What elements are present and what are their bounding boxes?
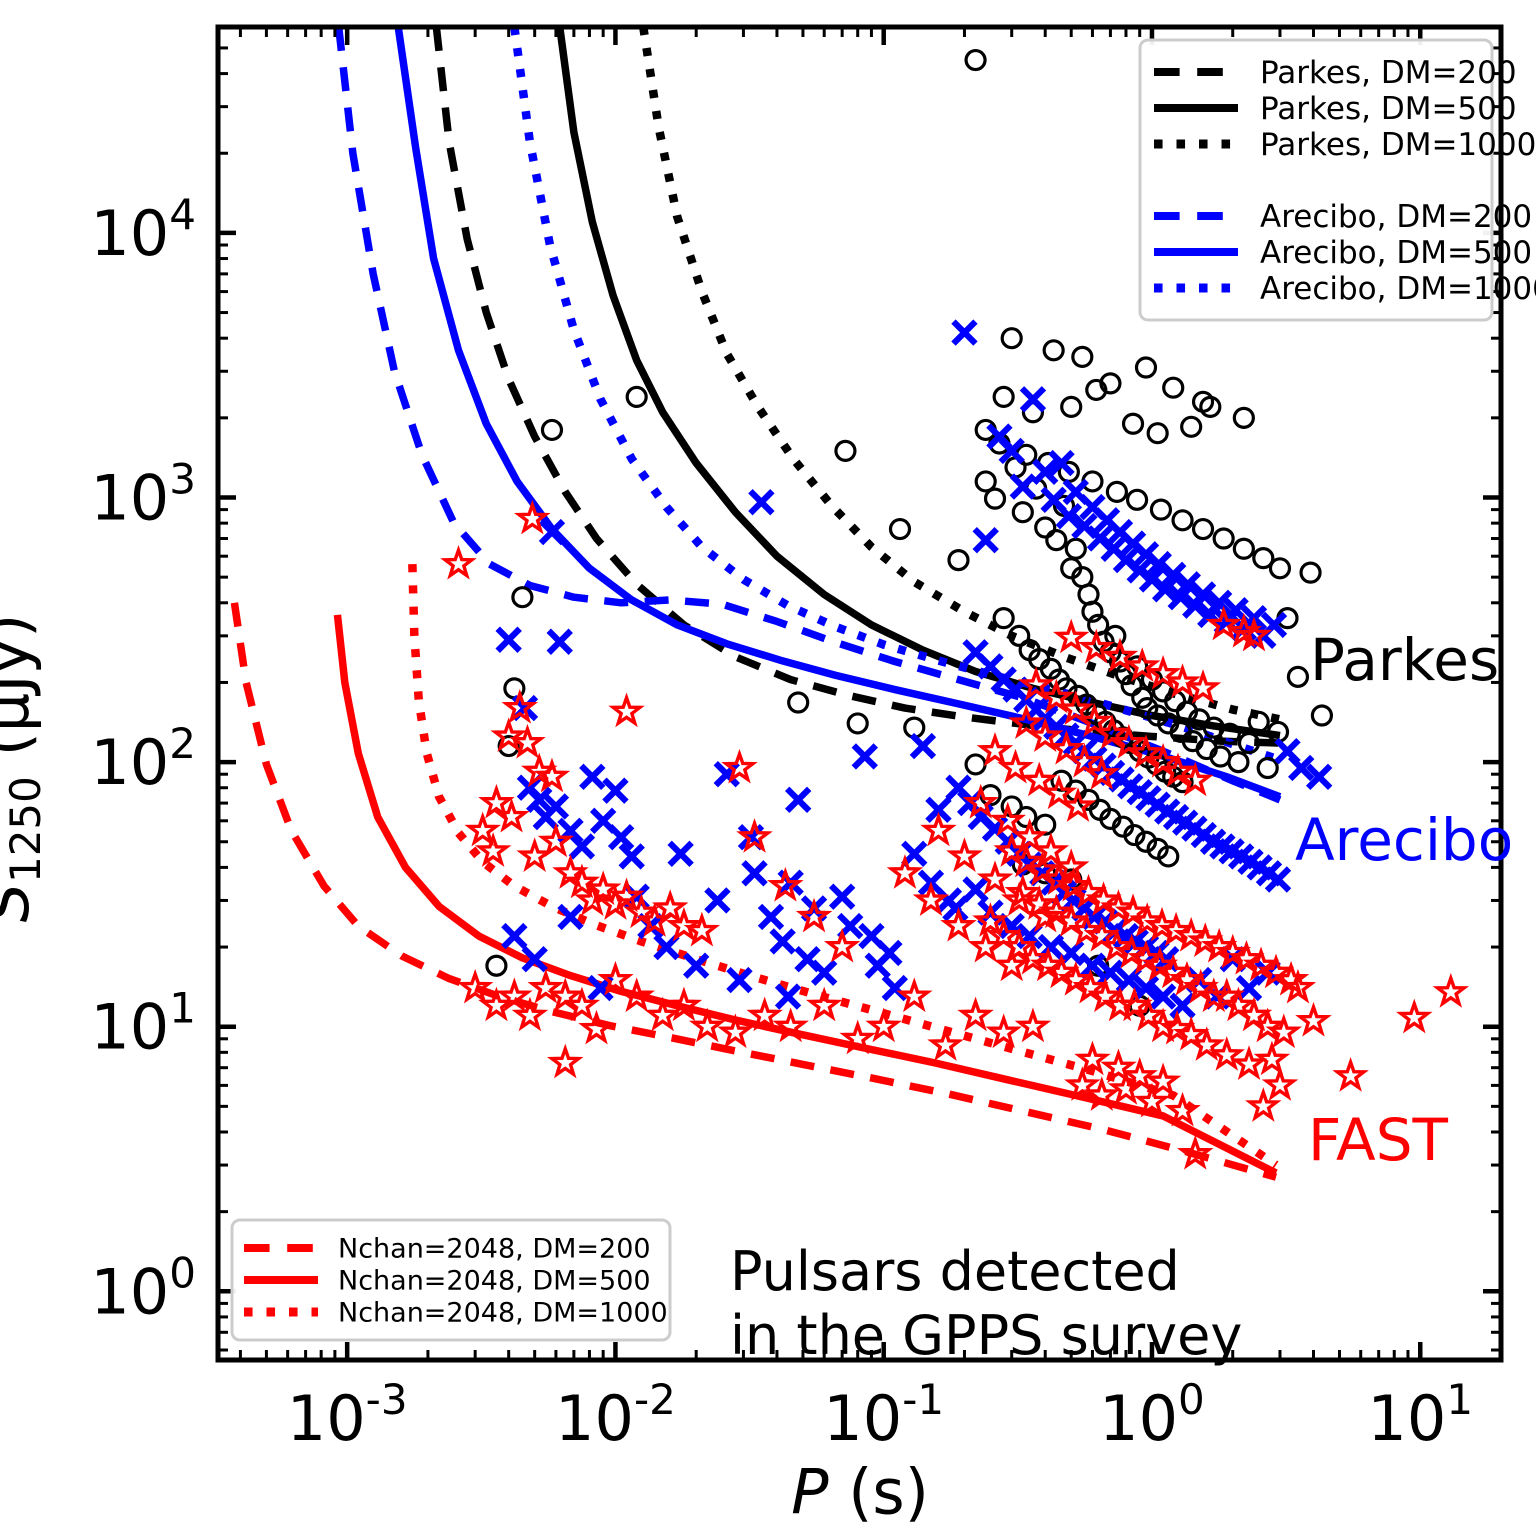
tick-mantissa: 10 — [90, 726, 169, 799]
tick-exponent: -3 — [366, 1375, 408, 1424]
x-tick-label-0: 10-3 — [287, 1375, 408, 1455]
tick-mantissa: 10 — [1367, 1382, 1446, 1455]
annotation-fast: FAST — [1308, 1106, 1448, 1174]
annotation-arecibo: Arecibo — [1295, 806, 1513, 874]
tick-mantissa: 10 — [90, 1255, 169, 1328]
caption-line-2: in the GPPS survey — [730, 1304, 1242, 1367]
tick-exponent: 3 — [169, 454, 196, 503]
x-axis-label: P (s) — [791, 1456, 929, 1529]
tick-mantissa: 10 — [90, 991, 169, 1064]
x-tick-label-2: 10-1 — [823, 1375, 944, 1455]
y-axis-label: S1250 (µJy) — [0, 614, 50, 923]
figure-root: 10-310-210-1100101100101102103104 Parkes… — [0, 0, 1536, 1536]
y-tick-label-4: 104 — [90, 190, 196, 270]
y-tick-label-1: 101 — [90, 984, 196, 1064]
tick-exponent: 1 — [1446, 1375, 1473, 1424]
y-tick-label-3: 103 — [90, 454, 196, 534]
legend-fast-nchan-bottom-left: Nchan=2048, DM=200Nchan=2048, DM=500Ncha… — [232, 1220, 670, 1340]
tick-exponent: 1 — [169, 984, 196, 1033]
tick-mantissa: 10 — [823, 1382, 902, 1455]
legend-telescopes-top-right-label-1: Parkes, DM=500 — [1260, 91, 1517, 127]
legend-telescopes-top-right-label-5: Arecibo, DM=500 — [1260, 235, 1532, 271]
legend-fast-nchan-bottom-left-label-1: Nchan=2048, DM=500 — [338, 1265, 651, 1296]
legend-telescopes-top-right-label-6: Arecibo, DM=1000 — [1260, 271, 1536, 307]
x-tick-label-3: 100 — [1099, 1375, 1205, 1455]
tick-exponent: 0 — [1178, 1375, 1205, 1424]
tick-mantissa: 10 — [90, 461, 169, 534]
tick-exponent: 2 — [169, 719, 196, 768]
legend-telescopes-top-right-label-2: Parkes, DM=1000 — [1260, 127, 1536, 163]
x-tick-label-1: 10-2 — [555, 1375, 676, 1455]
legend-fast-nchan-bottom-left-label-2: Nchan=2048, DM=1000 — [338, 1297, 668, 1328]
annotation-parkes: Parkes — [1310, 626, 1499, 694]
legend-fast-nchan-bottom-left-label-0: Nchan=2048, DM=200 — [338, 1233, 651, 1264]
tick-exponent: 4 — [169, 190, 196, 239]
tick-mantissa: 10 — [555, 1382, 634, 1455]
y-tick-label-0: 100 — [90, 1248, 196, 1328]
tick-exponent: -1 — [902, 1375, 944, 1424]
tick-mantissa: 10 — [1099, 1382, 1178, 1455]
tick-exponent: 0 — [169, 1248, 196, 1297]
legend-telescopes-top-right-label-0: Parkes, DM=200 — [1260, 55, 1517, 91]
caption-line-1: Pulsars detected — [730, 1240, 1180, 1303]
tick-mantissa: 10 — [90, 197, 169, 270]
y-tick-label-2: 102 — [90, 719, 196, 799]
x-tick-label-4: 101 — [1367, 1375, 1473, 1455]
tick-mantissa: 10 — [287, 1382, 366, 1455]
legend-telescopes-top-right: Parkes, DM=200Parkes, DM=500Parkes, DM=1… — [1140, 40, 1536, 320]
tick-exponent: -2 — [634, 1375, 676, 1424]
legend-telescopes-top-right-label-4: Arecibo, DM=200 — [1260, 199, 1532, 235]
